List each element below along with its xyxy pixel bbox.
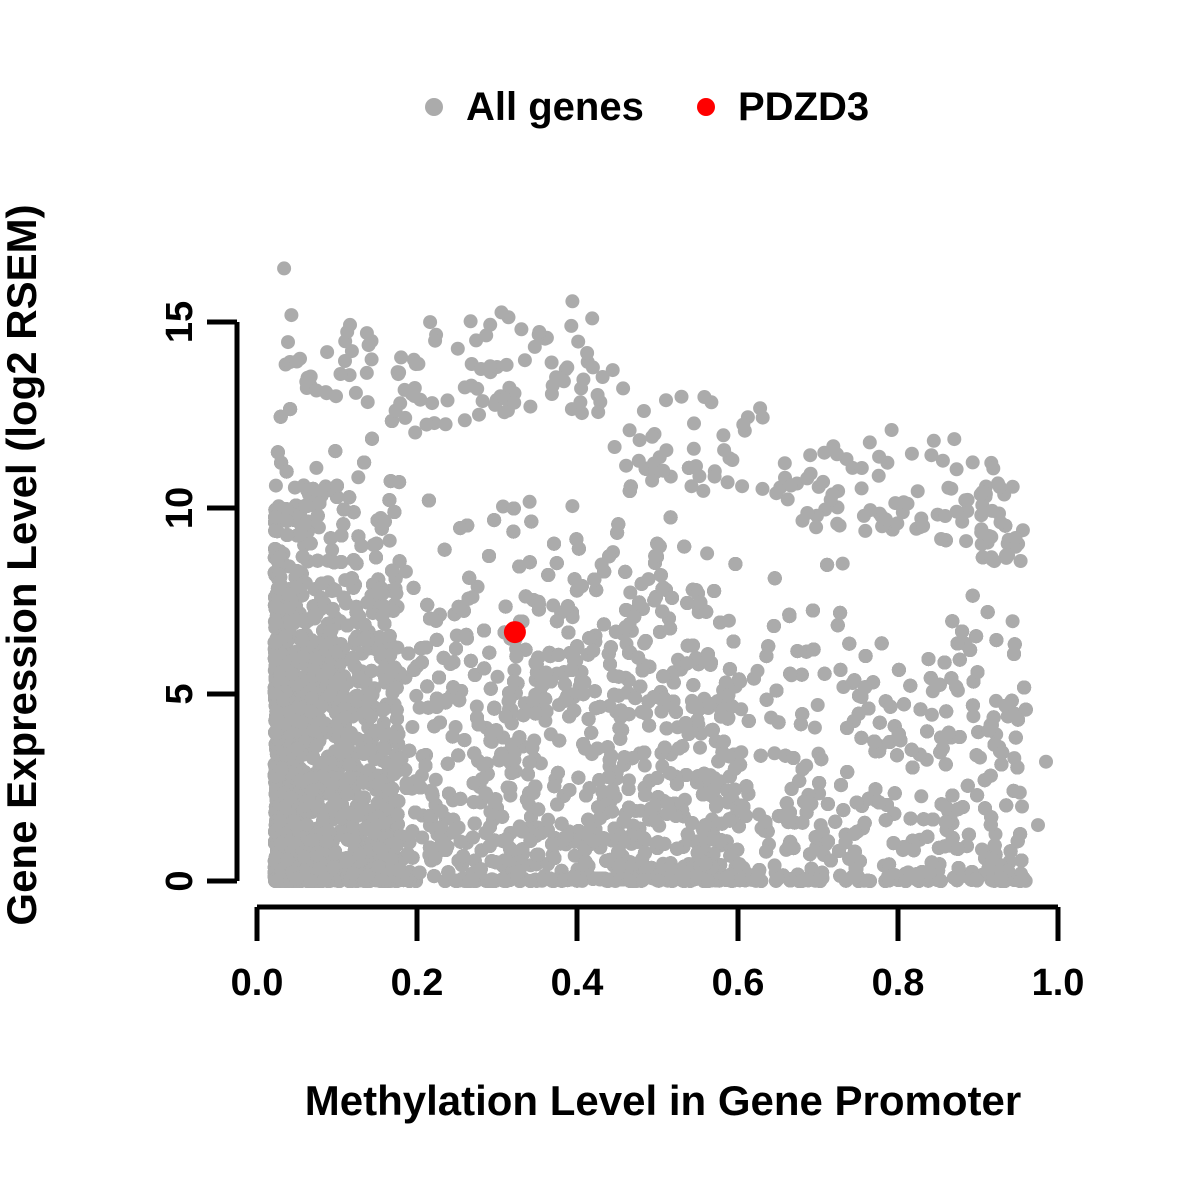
- x-tick-label-1: 0.2: [391, 962, 444, 1004]
- highlight-point-layer: [504, 621, 526, 643]
- y-tick-label-10: 10: [159, 487, 201, 529]
- legend-label-all-genes: All genes: [466, 85, 644, 129]
- y-tick-label-15: 15: [159, 301, 201, 343]
- x-axis-title: Methylation Level in Gene Promoter: [305, 1077, 1021, 1124]
- scatter-plot-figure: 0 5 10 15 0.0 0.2 0.4 0.6 0.8 1.0 Methyl…: [0, 0, 1200, 1200]
- legend-marker-pdzd3: [697, 98, 715, 116]
- plot-canvas: 0 5 10 15 0.0 0.2 0.4 0.6 0.8 1.0 Methyl…: [0, 0, 1200, 1200]
- x-tick-label-3: 0.6: [712, 962, 765, 1004]
- y-tick-label-0: 0: [159, 870, 201, 891]
- y-tick-label-5: 5: [159, 683, 201, 704]
- x-tick-label-2: 0.4: [551, 962, 604, 1004]
- legend-label-pdzd3: PDZD3: [738, 85, 869, 129]
- figure-background: [0, 0, 1200, 1200]
- x-tick-label-5: 1.0: [1032, 962, 1085, 1004]
- x-tick-label-0: 0.0: [231, 962, 284, 1004]
- highlight-point-pdzd3: [504, 621, 526, 643]
- legend-marker-all-genes: [425, 98, 443, 116]
- y-axis-title: Gene Expression Level (log2 RSEM): [0, 204, 45, 925]
- x-tick-label-4: 0.8: [872, 962, 925, 1004]
